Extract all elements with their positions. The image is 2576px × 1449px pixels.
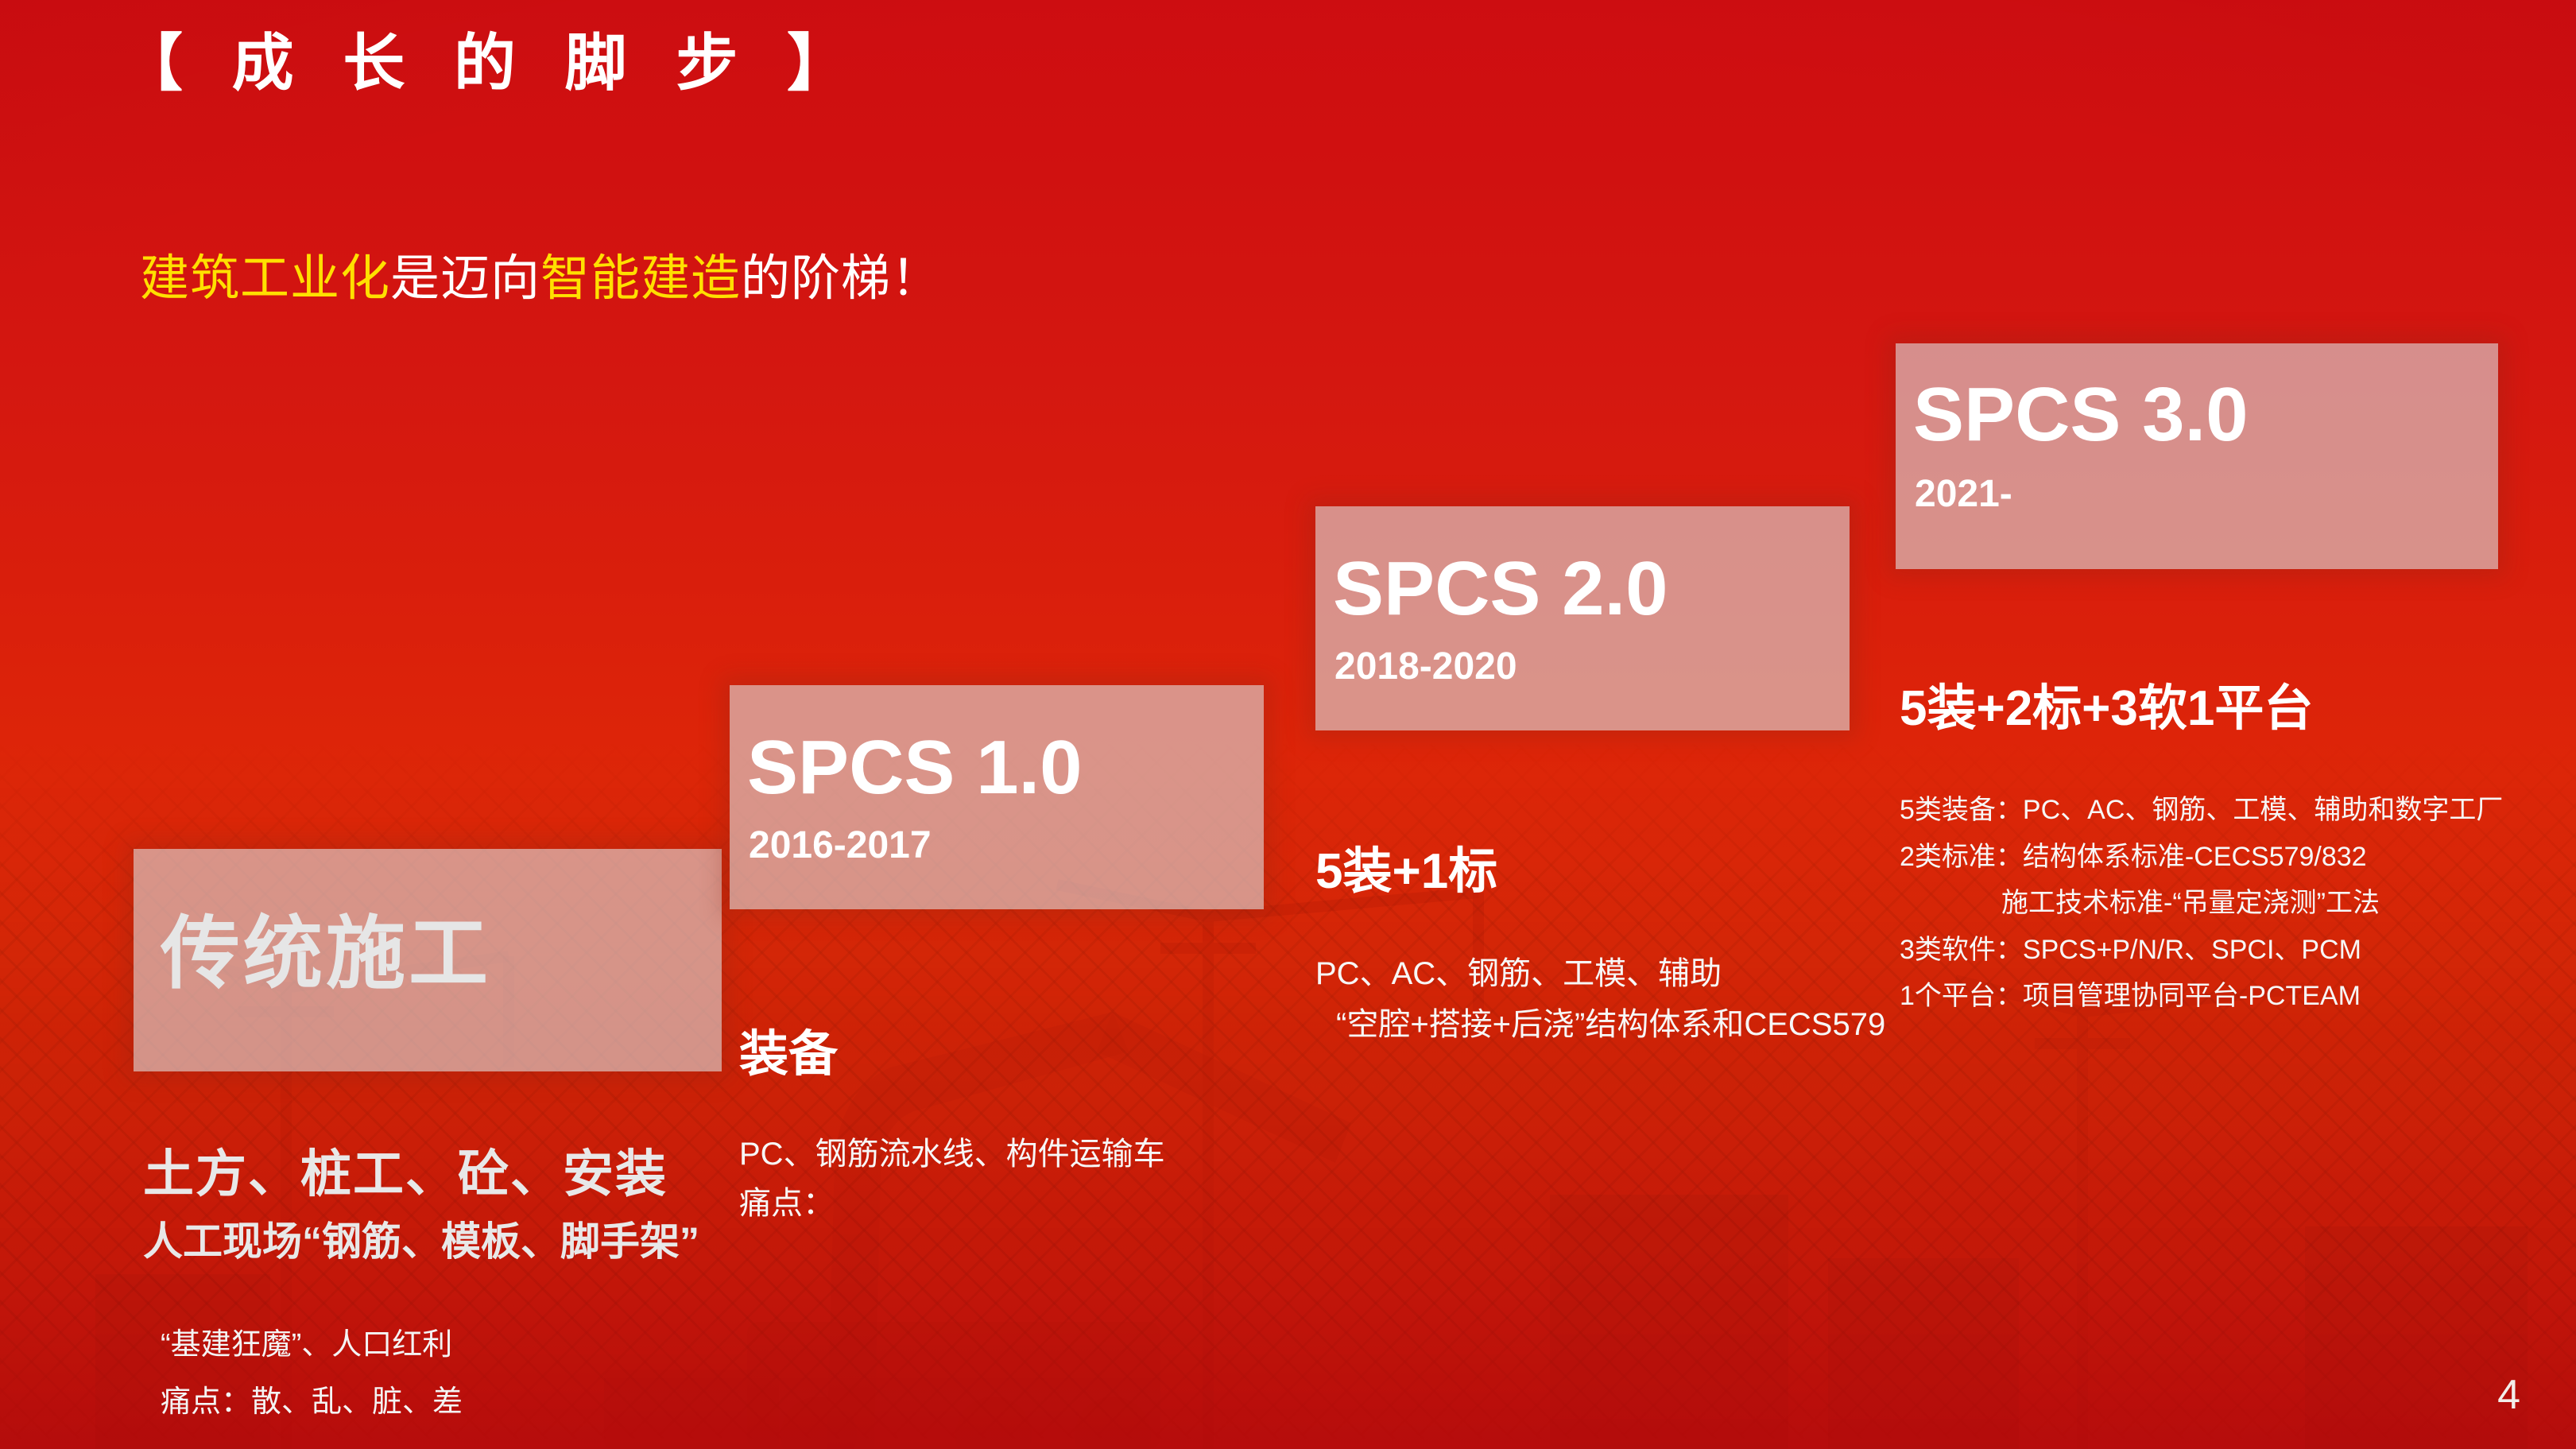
- step-lines-spcs2: PC、AC、钢筋、工模、辅助 “空腔+搭接+后浇”结构体系和CECS579: [1315, 948, 1885, 1050]
- step-box-years-spcs2: 2018-2020: [1334, 648, 1517, 686]
- step-box-years-spcs1: 2016-2017: [749, 827, 932, 865]
- step-line: 痛点：: [739, 1179, 1165, 1228]
- step-head2-traditional: 人工现场“钢筋、模板、脚手架”: [143, 1210, 699, 1267]
- step-line: 施工技术标准-“吊量定浇测”工法: [1900, 880, 2503, 926]
- step-line: PC、AC、钢筋、工模、辅助: [1315, 948, 1885, 999]
- step-box-title-spcs1: SPCS 1.0: [747, 730, 1083, 806]
- step-box-title-spcs2: SPCS 2.0: [1333, 551, 1668, 627]
- presentation-slide: 【 成 长 的 脚 步 】 建筑工业化是迈向智能建造的阶梯！ 传统施工 SPCS…: [0, 0, 2576, 1449]
- step-text-spcs1: 装备 PC、钢筋流水线、构件运输车 痛点：: [739, 1025, 1165, 1228]
- subtitle-part-4: 的阶梯！: [741, 251, 941, 306]
- step-head-spcs1: 装备: [739, 1025, 1165, 1083]
- page-title: 【 成 长 的 脚 步 】: [121, 32, 865, 94]
- step-note-line: 痛点：散、乱、脏、差: [161, 1373, 699, 1431]
- step-line: “空腔+搭接+后浇”结构体系和CECS579: [1315, 999, 1885, 1050]
- step-text-traditional: 土方、桩工、砼、安装 人工现场“钢筋、模板、脚手架” “基建狂魔”、人口红利 痛…: [143, 1145, 699, 1431]
- step-line: 5类装备：PC、AC、钢筋、工模、辅助和数字工厂: [1900, 787, 2503, 833]
- step-box-traditional: 传统施工: [134, 849, 722, 1071]
- step-box-spcs3: SPCS 3.0 2021-: [1896, 343, 2498, 569]
- step-text-spcs3: 5装+2标+3软1平台 5类装备：PC、AC、钢筋、工模、辅助和数字工厂 2类标…: [1900, 680, 2503, 1020]
- step-head-spcs3: 5装+2标+3软1平台: [1900, 680, 2503, 738]
- step-line: PC、钢筋流水线、构件运输车: [739, 1129, 1165, 1179]
- page-number: 4: [2497, 1374, 2520, 1416]
- step-notes-traditional: “基建狂魔”、人口红利 痛点：散、乱、脏、差: [143, 1316, 699, 1431]
- subtitle-part-2: 是迈向: [390, 251, 540, 306]
- step-lines-spcs3: 5类装备：PC、AC、钢筋、工模、辅助和数字工厂 2类标准：结构体系标准-CEC…: [1900, 787, 2503, 1019]
- subtitle-part-3: 智能建造: [540, 251, 741, 306]
- step-head-traditional: 土方、桩工、砼、安装: [143, 1145, 699, 1205]
- step-text-spcs2: 5装+1标 PC、AC、钢筋、工模、辅助 “空腔+搭接+后浇”结构体系和CECS…: [1315, 843, 1885, 1050]
- step-line: 1个平台：项目管理协同平台-PCTEAM: [1900, 973, 2503, 1019]
- step-lines-spcs1: PC、钢筋流水线、构件运输车 痛点：: [739, 1129, 1165, 1228]
- step-box-spcs2: SPCS 2.0 2018-2020: [1315, 506, 1850, 730]
- subtitle-part-1: 建筑工业化: [140, 251, 390, 306]
- step-box-title-spcs3: SPCS 3.0: [1913, 377, 2249, 453]
- step-line: 2类标准：结构体系标准-CECS579/832: [1900, 834, 2503, 880]
- step-box-title-traditional: 传统施工: [161, 914, 491, 994]
- slide-subtitle: 建筑工业化是迈向智能建造的阶梯！: [140, 254, 941, 304]
- step-line: 3类软件：SPCS+P/N/R、SPCI、PCM: [1900, 927, 2503, 973]
- step-note-line: “基建狂魔”、人口红利: [161, 1316, 699, 1373]
- step-box-years-spcs3: 2021-: [1915, 475, 2012, 513]
- step-head-spcs2: 5装+1标: [1315, 843, 1885, 901]
- step-box-spcs1: SPCS 1.0 2016-2017: [730, 685, 1264, 909]
